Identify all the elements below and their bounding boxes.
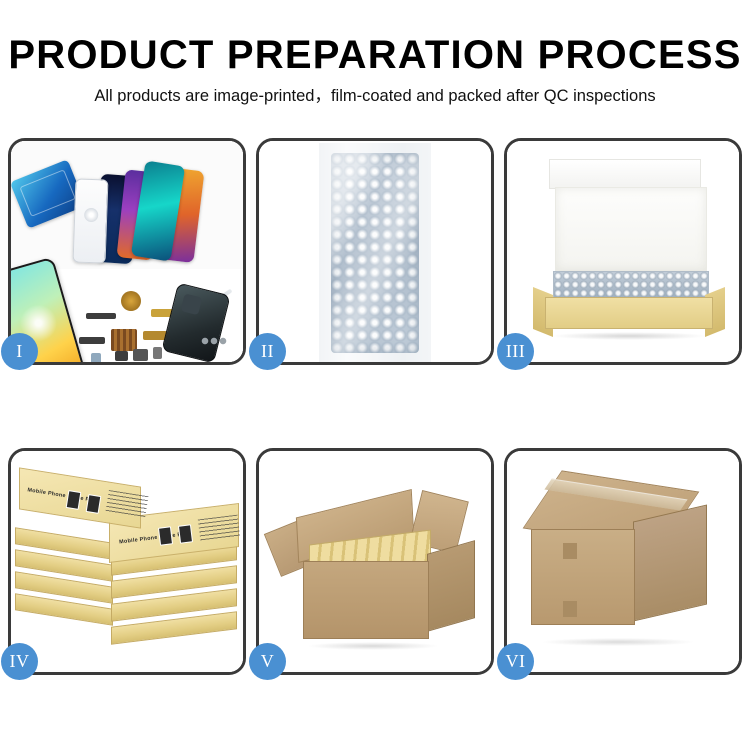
box-print-phone-front-1	[158, 526, 173, 545]
inner-box-scene	[507, 141, 739, 362]
part-small-2-icon	[115, 351, 128, 361]
part-chip-grid-icon	[111, 329, 137, 351]
part-cable-icon	[79, 337, 105, 344]
carton-front-wall	[303, 561, 429, 639]
bubble-wrap-sheen	[331, 153, 419, 353]
screws-icon	[201, 336, 227, 346]
step-image-1	[11, 141, 243, 362]
bubble-wrapped-contents	[553, 271, 709, 299]
box-stack-scene: Mobile Phone Spare Parts Mobile Phone Sp…	[11, 451, 243, 672]
step-panel-1[interactable]: I	[8, 138, 246, 365]
sealed-carton-shadow	[543, 638, 693, 646]
open-carton-scene	[259, 451, 491, 672]
step-badge-6: VI	[497, 643, 534, 680]
carton-side-wall	[427, 540, 475, 632]
box-front-wall	[545, 297, 713, 329]
step-image-5	[259, 451, 491, 672]
step-panel-6[interactable]: VI	[504, 448, 742, 675]
step-badge-3: III	[497, 333, 534, 370]
step-image-4: Mobile Phone Spare Parts Mobile Phone Sp…	[11, 451, 243, 672]
step-panel-5[interactable]: V	[256, 448, 494, 675]
part-small-4-icon	[153, 347, 162, 359]
step-panel-3[interactable]: III	[504, 138, 742, 365]
tempered-glass-icon	[73, 178, 109, 263]
bubble-wrap-scene	[259, 141, 491, 362]
step-panel-2[interactable]: II	[256, 138, 494, 365]
page-title: PRODUCT PREPARATION PROCESS	[0, 32, 750, 78]
box-print-phone-back-2	[86, 494, 102, 514]
part-small-1-icon	[91, 353, 101, 362]
carton-handle-tab-bottom	[563, 601, 577, 617]
step-badge-4: IV	[1, 643, 38, 680]
step-badge-1: I	[1, 333, 38, 370]
box-lid-flap	[549, 159, 701, 189]
step-panel-4[interactable]: Mobile Phone Spare Parts Mobile Phone Sp…	[8, 448, 246, 675]
carton-shadow	[307, 642, 439, 650]
step-badge-5: V	[249, 643, 286, 680]
step-image-2	[259, 141, 491, 362]
phone-parts-scene	[11, 141, 243, 362]
step-image-6	[507, 451, 739, 672]
sealed-carton-side	[633, 504, 707, 621]
sealed-carton-front	[531, 529, 635, 625]
part-coil-icon	[121, 291, 141, 311]
box-print-phone-back-1	[66, 490, 82, 510]
process-steps-grid: I II III	[8, 138, 742, 675]
box-shadow	[551, 332, 707, 340]
step-badge-2: II	[249, 333, 286, 370]
step-image-3	[507, 141, 739, 362]
part-small-3-icon	[133, 349, 148, 361]
part-strip-icon	[86, 313, 116, 319]
page-subtitle: All products are image-printed，film-coat…	[0, 84, 750, 108]
sealed-carton-scene	[507, 451, 739, 672]
carton-handle-tab-top	[563, 543, 577, 559]
header: PRODUCT PREPARATION PROCESS All products…	[0, 0, 750, 108]
box-print-phone-front-2	[178, 524, 193, 543]
foam-sheet	[555, 187, 707, 271]
